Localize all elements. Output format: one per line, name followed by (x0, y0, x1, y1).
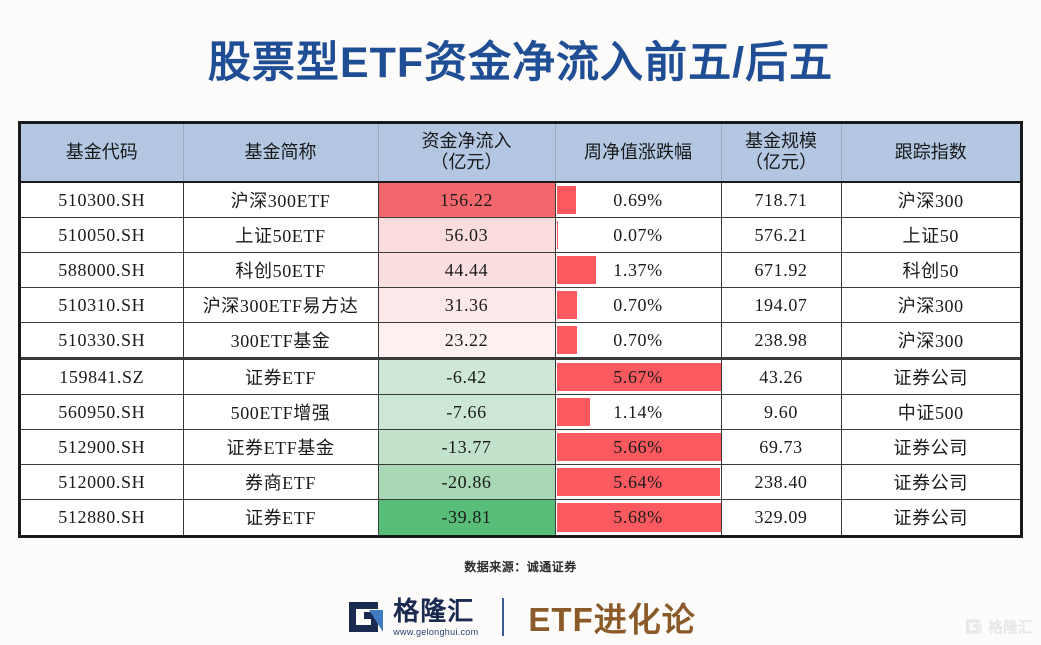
cell-fund-name: 上证50ETF (183, 218, 378, 253)
table-row: 159841.SZ证券ETF-6.425.67%43.26证券公司 (21, 359, 1020, 395)
weekly-change-value: 5.67% (560, 360, 717, 394)
cell-net-inflow: -6.42 (378, 359, 555, 395)
column-header-weekly-change: 周净值涨跌幅 (555, 124, 721, 182)
cell-net-inflow: 23.22 (378, 323, 555, 359)
cell-fund-code: 510050.SH (21, 218, 183, 253)
cell-weekly-change: 5.66% (555, 430, 721, 465)
table-row: 510310.SH沪深300ETF易方达31.360.70%194.07沪深30… (21, 288, 1020, 323)
brand-bar: 格隆汇 www.gelonghui.com ETF进化论 (0, 592, 1041, 642)
column-header-net-inflow: 资金净流入 （亿元） (378, 124, 555, 182)
table-row: 512000.SH券商ETF-20.865.64%238.40证券公司 (21, 465, 1020, 500)
cell-tracking-index: 证券公司 (841, 359, 1020, 395)
cell-fund-size: 671.92 (721, 253, 841, 288)
cell-net-inflow: 156.22 (378, 182, 555, 218)
brand-url: www.gelonghui.com (393, 627, 478, 637)
cell-tracking-index: 沪深300 (841, 288, 1020, 323)
cell-net-inflow: -39.81 (378, 500, 555, 535)
cell-weekly-change: 0.07% (555, 218, 721, 253)
cell-fund-name: 科创50ETF (183, 253, 378, 288)
cell-fund-size: 576.21 (721, 218, 841, 253)
header-line-1: 基金简称 (245, 142, 317, 162)
cell-weekly-change: 1.37% (555, 253, 721, 288)
cell-fund-code: 159841.SZ (21, 359, 183, 395)
cell-fund-name: 券商ETF (183, 465, 378, 500)
cell-fund-size: 69.73 (721, 430, 841, 465)
cell-weekly-change: 5.64% (555, 465, 721, 500)
cell-fund-name: 证券ETF (183, 500, 378, 535)
cell-net-inflow: -7.66 (378, 395, 555, 430)
cell-fund-size: 43.26 (721, 359, 841, 395)
weekly-change-value: 5.64% (560, 465, 717, 499)
column-header-fund-name: 基金简称 (183, 124, 378, 182)
cell-fund-name: 沪深300ETF易方达 (183, 288, 378, 323)
cell-tracking-index: 科创50 (841, 253, 1020, 288)
cell-fund-name: 500ETF增强 (183, 395, 378, 430)
table-row: 512880.SH证券ETF-39.815.68%329.09证券公司 (21, 500, 1020, 535)
cell-fund-code: 588000.SH (21, 253, 183, 288)
gelonghui-logo-icon (345, 599, 387, 635)
cell-fund-code: 512900.SH (21, 430, 183, 465)
brand-divider (502, 598, 504, 636)
weekly-change-value: 0.70% (560, 323, 717, 357)
watermark-logo-icon (964, 618, 984, 635)
weekly-change-data-bar (557, 221, 559, 249)
column-header-fund-code: 基金代码 (21, 124, 183, 182)
cell-fund-size: 238.40 (721, 465, 841, 500)
header-line-1: 跟踪指数 (895, 142, 967, 162)
cell-tracking-index: 中证500 (841, 395, 1020, 430)
column-header-fund-size: 基金规模 （亿元） (721, 124, 841, 182)
cell-fund-code: 512880.SH (21, 500, 183, 535)
header-line-1: 资金净流入 (422, 131, 512, 151)
header-row: 基金代码 基金简称 资金净流入 （亿元） 周净值涨跌幅 基金规模 （亿元） (21, 124, 1020, 182)
cell-fund-size: 238.98 (721, 323, 841, 359)
watermark: 格隆汇 (964, 616, 1033, 637)
cell-weekly-change: 5.67% (555, 359, 721, 395)
cell-tracking-index: 证券公司 (841, 465, 1020, 500)
weekly-change-value: 5.66% (560, 430, 717, 464)
etf-table-container: 基金代码 基金简称 资金净流入 （亿元） 周净值涨跌幅 基金规模 （亿元） (18, 121, 1023, 538)
cell-fund-code: 510310.SH (21, 288, 183, 323)
table-row: 560950.SH500ETF增强-7.661.14%9.60中证500 (21, 395, 1020, 430)
cell-weekly-change: 1.14% (555, 395, 721, 430)
cell-tracking-index: 证券公司 (841, 500, 1020, 535)
cell-fund-size: 329.09 (721, 500, 841, 535)
cell-tracking-index: 沪深300 (841, 182, 1020, 218)
weekly-change-value: 0.69% (560, 183, 717, 217)
cell-fund-name: 300ETF基金 (183, 323, 378, 359)
data-source-note: 数据来源：诚通证券 (0, 558, 1041, 575)
table-row: 512900.SH证券ETF基金-13.775.66%69.73证券公司 (21, 430, 1020, 465)
header-line-2: （亿元） (381, 152, 553, 173)
etf-table: 基金代码 基金简称 资金净流入 （亿元） 周净值涨跌幅 基金规模 （亿元） (21, 124, 1020, 535)
table-row: 510300.SH沪深300ETF156.220.69%718.71沪深300 (21, 182, 1020, 218)
cell-fund-code: 510330.SH (21, 323, 183, 359)
gelonghui-logo-text: 格隆汇 www.gelonghui.com (393, 598, 478, 636)
table-header: 基金代码 基金简称 资金净流入 （亿元） 周净值涨跌幅 基金规模 （亿元） (21, 124, 1020, 182)
cell-tracking-index: 证券公司 (841, 430, 1020, 465)
brand-name: 格隆汇 (393, 598, 478, 624)
cell-fund-name: 证券ETF (183, 359, 378, 395)
cell-fund-code: 560950.SH (21, 395, 183, 430)
weekly-change-value: 1.14% (560, 395, 717, 429)
page-title: 股票型ETF资金净流入前五/后五 (0, 28, 1041, 90)
weekly-change-value: 5.68% (560, 500, 717, 534)
cell-weekly-change: 5.68% (555, 500, 721, 535)
cell-fund-size: 718.71 (721, 182, 841, 218)
table-row: 510050.SH上证50ETF56.030.07%576.21上证50 (21, 218, 1020, 253)
column-header-tracking-index: 跟踪指数 (841, 124, 1020, 182)
cell-fund-name: 沪深300ETF (183, 182, 378, 218)
cell-tracking-index: 上证50 (841, 218, 1020, 253)
weekly-change-value: 0.07% (560, 218, 717, 252)
cell-fund-code: 510300.SH (21, 182, 183, 218)
cell-net-inflow: 44.44 (378, 253, 555, 288)
cell-net-inflow: 31.36 (378, 288, 555, 323)
cell-weekly-change: 0.70% (555, 288, 721, 323)
table-row: 510330.SH300ETF基金23.220.70%238.98沪深300 (21, 323, 1020, 359)
header-line-2: （亿元） (724, 152, 839, 173)
cell-fund-name: 证券ETF基金 (183, 430, 378, 465)
watermark-text: 格隆汇 (988, 616, 1033, 637)
brand-section-title: ETF进化论 (528, 593, 695, 641)
weekly-change-value: 1.37% (560, 253, 717, 287)
cell-fund-size: 194.07 (721, 288, 841, 323)
header-line-1: 基金代码 (66, 142, 138, 162)
header-line-1: 周净值涨跌幅 (584, 142, 692, 162)
poster-root: 股票型ETF资金净流入前五/后五 基金代码 基金简称 资金净流入 （亿元） (0, 0, 1041, 645)
cell-net-inflow: -13.77 (378, 430, 555, 465)
weekly-change-value: 0.70% (560, 288, 717, 322)
table-row: 588000.SH科创50ETF44.441.37%671.92科创50 (21, 253, 1020, 288)
cell-net-inflow: -20.86 (378, 465, 555, 500)
cell-weekly-change: 0.70% (555, 323, 721, 359)
table-body: 510300.SH沪深300ETF156.220.69%718.71沪深3005… (21, 182, 1020, 535)
header-line-1: 基金规模 (745, 131, 817, 151)
cell-weekly-change: 0.69% (555, 182, 721, 218)
cell-fund-code: 512000.SH (21, 465, 183, 500)
cell-fund-size: 9.60 (721, 395, 841, 430)
cell-tracking-index: 沪深300 (841, 323, 1020, 359)
cell-net-inflow: 56.03 (378, 218, 555, 253)
